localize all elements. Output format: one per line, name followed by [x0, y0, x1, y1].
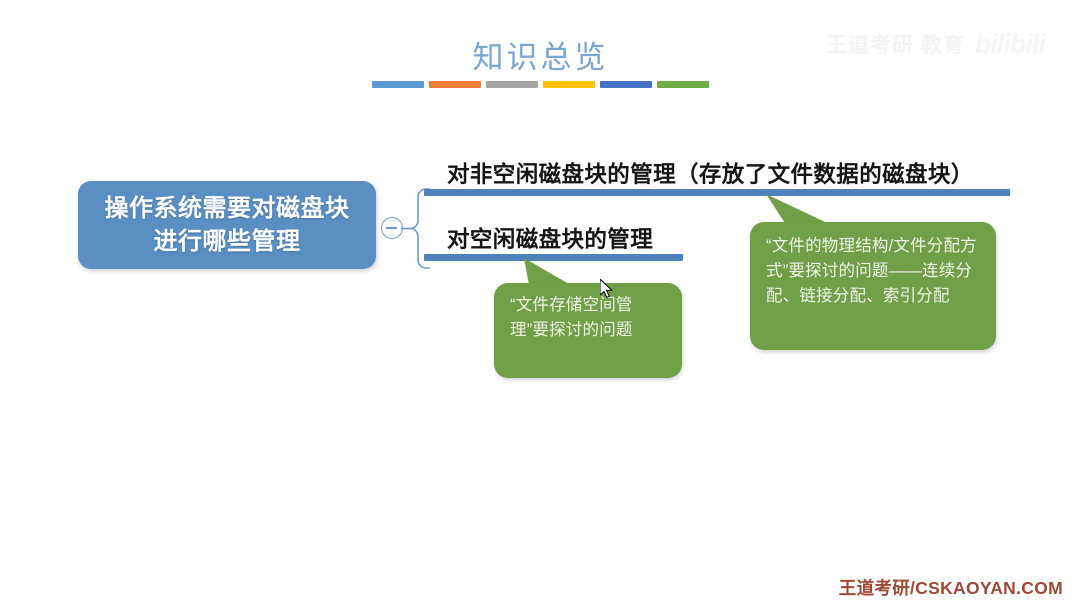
slide-canvas: 王道考研 教育 bilibili 知识总览 操作系统需要对磁盘块进行哪些管理 对… — [0, 0, 1081, 609]
page-title: 知识总览 — [0, 32, 1081, 77]
branch-label-1[interactable]: 对非空闲磁盘块的管理（存放了文件数据的磁盘块） — [447, 157, 974, 189]
callout-left-text: “文件存储空间管理”要探讨的问题 — [494, 283, 682, 355]
rule-segment-2 — [429, 81, 481, 88]
title-rule-decoration — [372, 81, 709, 88]
rule-segment-4 — [543, 81, 595, 88]
branch-underline-2 — [424, 254, 683, 261]
mindmap-root-node[interactable]: 操作系统需要对磁盘块进行哪些管理 — [78, 181, 376, 269]
rule-segment-1 — [372, 81, 424, 88]
rule-segment-5 — [600, 81, 652, 88]
rule-segment-6 — [657, 81, 709, 88]
callout-right: “文件的物理结构/文件分配方式”要探讨的问题——连续分配、链接分配、索引分配 — [750, 222, 996, 350]
site-watermark: 王道考研/CSKAOYAN.COM — [839, 575, 1063, 600]
callout-right-text: “文件的物理结构/文件分配方式”要探讨的问题——连续分配、链接分配、索引分配 — [750, 222, 996, 321]
branch-underline-1 — [424, 189, 1010, 196]
callout-left: “文件存储空间管理”要探讨的问题 — [494, 283, 682, 378]
mindmap-root-label: 操作系统需要对磁盘块进行哪些管理 — [102, 192, 352, 258]
collapse-toggle-icon[interactable] — [381, 217, 403, 239]
rule-segment-3 — [486, 81, 538, 88]
branch-label-2[interactable]: 对空闲磁盘块的管理 — [447, 222, 653, 254]
